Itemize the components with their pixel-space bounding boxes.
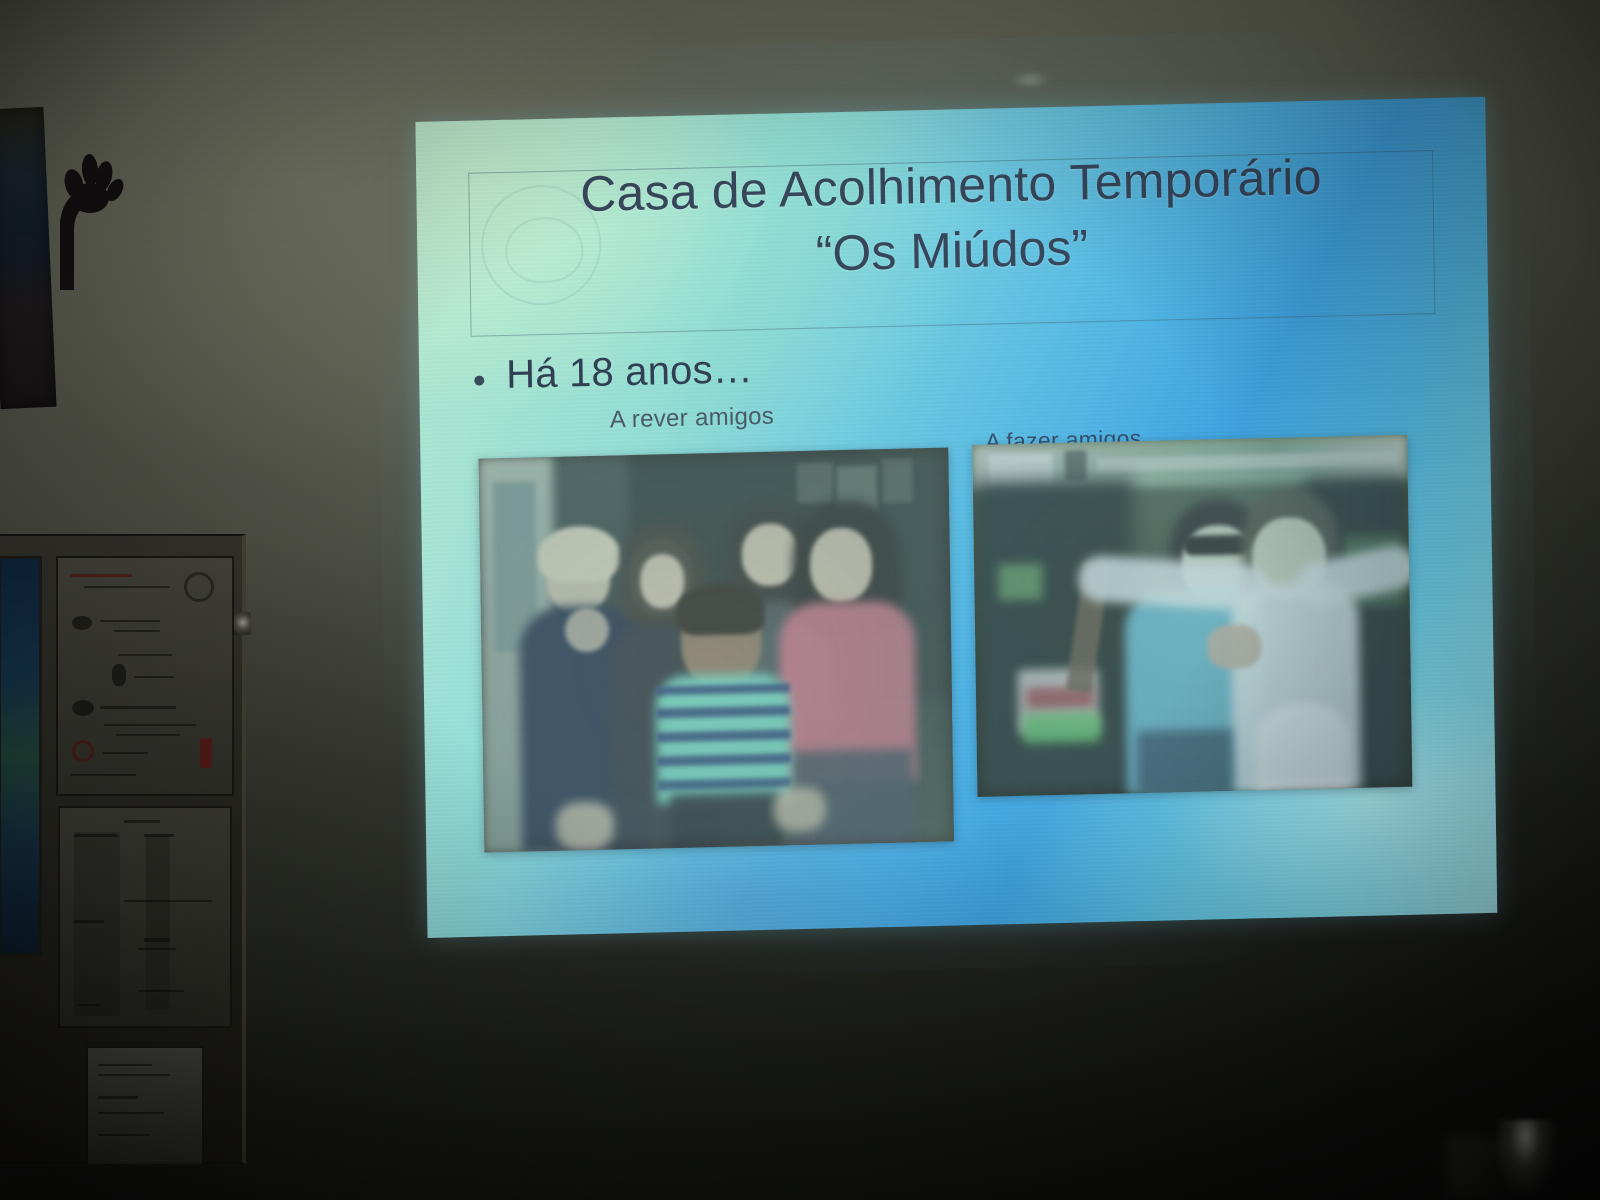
small-leaflet bbox=[86, 1046, 204, 1166]
safety-notice bbox=[56, 556, 234, 796]
caption-left: A rever amigos bbox=[610, 403, 775, 435]
bullet-dot-icon bbox=[474, 375, 484, 385]
group-photo-indoors bbox=[478, 448, 954, 853]
wall-sculpture-arm-icon bbox=[44, 150, 128, 290]
schedule-sheet bbox=[58, 806, 232, 1028]
blue-poster bbox=[0, 556, 42, 956]
bullet-item-label: Há 18 anos… bbox=[506, 348, 753, 396]
friends-photo-outdoors bbox=[972, 435, 1412, 797]
projected-slide-area: Casa de Acolhimento Temporário “Os Miúdo… bbox=[415, 67, 1499, 940]
bullet-item: Há 18 anos… bbox=[474, 348, 753, 397]
cabinet-latch[interactable] bbox=[234, 612, 251, 635]
presentation-slide: Casa de Acolhimento Temporário “Os Miúdo… bbox=[415, 97, 1497, 938]
corner-light bbox=[1498, 1120, 1558, 1198]
page-title: Casa de Acolhimento Temporário “Os Miúdo… bbox=[468, 146, 1435, 291]
room-photo-scene: Casa de Acolhimento Temporário “Os Miúdo… bbox=[0, 0, 1600, 1200]
